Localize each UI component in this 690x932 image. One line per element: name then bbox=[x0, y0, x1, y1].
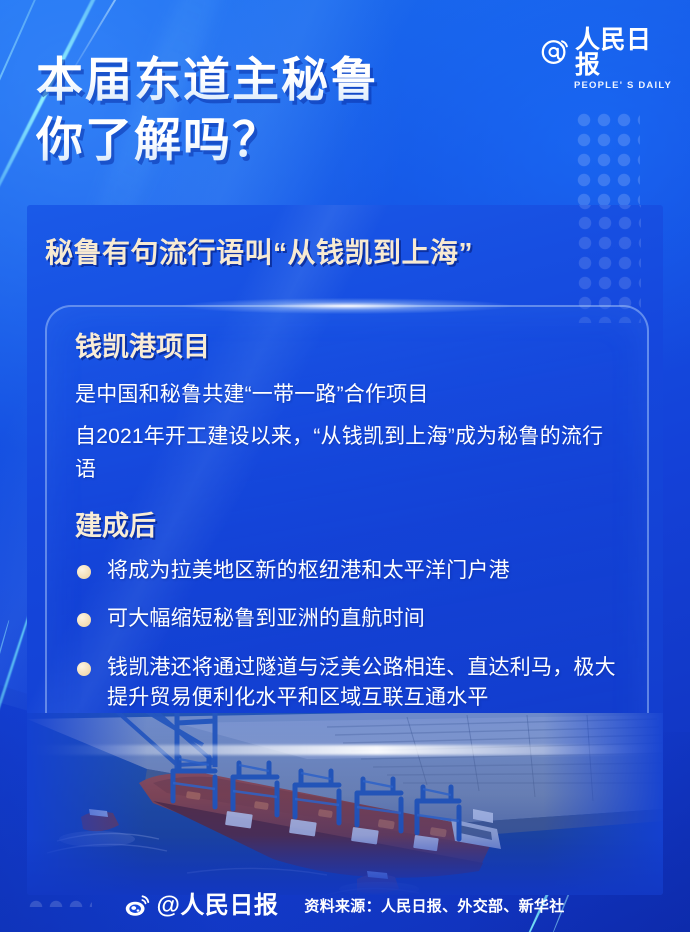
brand-logo-en: PEOPLE' S DAILY bbox=[574, 81, 672, 91]
project-line-2: 自2021年开工建设以来，“从钱凯到上海”成为秘鲁的流行语 bbox=[75, 421, 621, 486]
weibo-account[interactable]: @人民日报 bbox=[125, 894, 278, 918]
at-sign-icon bbox=[540, 38, 570, 68]
list-item: 可大幅缩短秘鲁到亚洲的直航时间 bbox=[73, 604, 621, 634]
page-title: 本届东道主秘鲁 你了解吗？ bbox=[36, 50, 379, 170]
poster-header: 人民日报 PEOPLE' S DAILY 本届东道主秘鲁 你了解吗？ bbox=[0, 0, 690, 207]
bullet-dot-icon bbox=[77, 565, 91, 579]
page-title-line2: 你了解吗？ bbox=[36, 110, 379, 170]
bullet-dot-icon bbox=[77, 613, 91, 627]
source-credit: 资料来源：人民日报、外交部、新华社 bbox=[304, 899, 564, 914]
weibo-icon bbox=[125, 895, 150, 917]
info-card: 钱凯港项目 是中国和秘鲁共建“一带一路”合作项目 自2021年开工建设以来，“从… bbox=[45, 305, 649, 781]
benefits-list: 将成为拉美地区新的枢纽港和太平洋门户港 可大幅缩短秘鲁到亚洲的直航时间 钱凯港还… bbox=[73, 556, 621, 714]
section-heading-after-built: 建成后 bbox=[75, 512, 621, 542]
info-card-content: 钱凯港项目 是中国和秘鲁共建“一带一路”合作项目 自2021年开工建设以来，“从… bbox=[47, 307, 647, 714]
cyan-streak-icon bbox=[0, 620, 9, 909]
bullet-dot-icon bbox=[77, 662, 91, 676]
poster-root: 人民日报 PEOPLE' S DAILY 本届东道主秘鲁 你了解吗？ 秘鲁有句流… bbox=[0, 0, 690, 932]
list-item-label: 钱凯港还将通过隧道与泛美公路相连、直达利马，极大提升贸易便利化水平和区域互联互通… bbox=[107, 656, 616, 709]
list-item: 将成为拉美地区新的枢纽港和太平洋门户港 bbox=[73, 556, 621, 586]
content-panel: 秘鲁有句流行语叫“从钱凯到上海” 钱凯港项目 是中国和秘鲁共建“一带一路”合作项… bbox=[27, 205, 663, 895]
brand-logo: 人民日报 PEOPLE' S DAILY bbox=[540, 28, 672, 76]
weibo-handle: @人民日报 bbox=[156, 894, 278, 918]
list-item-label: 将成为拉美地区新的枢纽港和太平洋门户港 bbox=[107, 559, 510, 582]
poster-footer: @人民日报 资料来源：人民日报、外交部、新华社 bbox=[0, 894, 690, 918]
project-line-1: 是中国和秘鲁共建“一带一路”合作项目 bbox=[75, 379, 621, 412]
cargo-ship-photo-illustration bbox=[27, 713, 663, 895]
section-heading-project: 钱凯港项目 bbox=[75, 333, 621, 363]
brand-logo-cn: 人民日报 bbox=[575, 28, 672, 78]
list-item-label: 可大幅缩短秘鲁到亚洲的直航时间 bbox=[107, 607, 425, 630]
port-photo bbox=[27, 713, 663, 895]
list-item: 钱凯港还将通过隧道与泛美公路相连、直达利马，极大提升贸易便利化水平和区域互联互通… bbox=[73, 653, 621, 714]
page-title-line1: 本届东道主秘鲁 bbox=[36, 50, 379, 110]
brand-logo-row: 人民日报 bbox=[540, 28, 672, 78]
panel-subtitle: 秘鲁有句流行语叫“从钱凯到上海” bbox=[45, 231, 473, 271]
